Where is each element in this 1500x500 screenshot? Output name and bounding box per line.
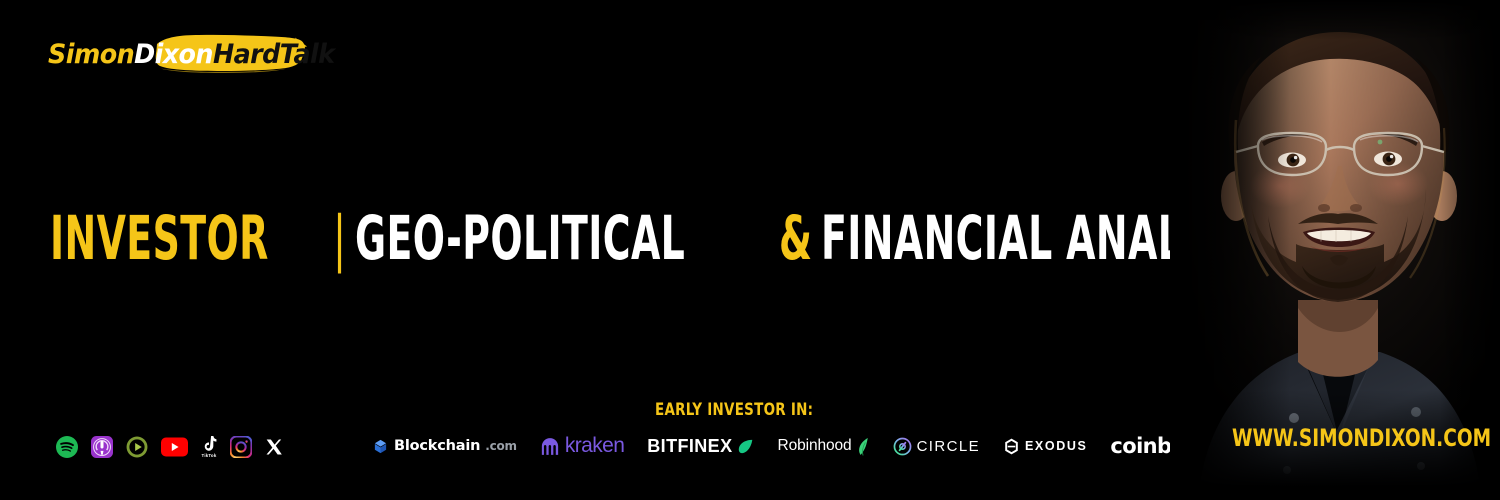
exodus-icon (1003, 438, 1020, 455)
exodus-wordmark: EXODUS (1025, 439, 1087, 453)
partner-kraken[interactable]: kraken (540, 434, 624, 458)
play-circle-icon[interactable] (126, 436, 148, 458)
headline-ampersand: & (779, 209, 812, 269)
bitfinex-wordmark: BITFINEX (647, 436, 732, 457)
headline-segment-geopolitical: GEO-POLITICAL (355, 209, 685, 269)
blockchain-wordmark: Blockchain (394, 438, 480, 454)
x-icon[interactable] (265, 438, 283, 456)
circle-icon (893, 437, 912, 456)
site-logo[interactable]: SimonDixonHardTalk (48, 28, 353, 80)
logo-hardtalk: HardTalk (213, 39, 335, 70)
partner-circle[interactable]: CIRCLE (893, 437, 980, 456)
blockchain-cube-icon (372, 438, 389, 455)
headline-segment-investor: INVESTOR (50, 209, 269, 269)
early-investor-label: EARLY INVESTOR IN: (655, 400, 813, 420)
apple-podcasts-icon[interactable] (91, 436, 113, 458)
robinhood-wordmark: Robinhood (777, 437, 851, 455)
partner-blockchain[interactable]: Blockchain.com (372, 438, 517, 455)
partner-exodus[interactable]: EXODUS (1003, 438, 1087, 455)
logo-text: SimonDixonHardTalk (48, 41, 334, 68)
spotify-icon[interactable] (56, 436, 78, 458)
tiktok-label: TikTok (202, 454, 217, 458)
youtube-icon[interactable] (161, 437, 188, 457)
partner-logos: Blockchain.com kraken BITFINEX Robinhood (372, 432, 1211, 460)
circle-wordmark: CIRCLE (917, 438, 980, 455)
kraken-icon (540, 437, 560, 456)
website-url[interactable]: WWW.SIMONDIXON.COM (1232, 424, 1491, 452)
kraken-wordmark: kraken (565, 434, 624, 458)
social-links: TikTok (56, 434, 283, 460)
partner-robinhood[interactable]: Robinhood (777, 437, 869, 456)
robinhood-feather-icon (857, 437, 870, 456)
instagram-icon[interactable] (230, 436, 252, 458)
tiktok-icon[interactable]: TikTok (201, 435, 217, 458)
partner-bitfinex[interactable]: BITFINEX (647, 436, 754, 457)
banner: SimonDixonHardTalk INVESTOR | GEO-POLITI… (0, 0, 1500, 500)
logo-stack: SimonDixonHardTalk (48, 28, 353, 80)
bitfinex-leaf-icon (737, 438, 754, 455)
logo-simon: Simon (48, 39, 134, 70)
headline-separator-1: | (330, 209, 349, 269)
logo-dixon: Dixon (134, 39, 213, 70)
blockchain-domain: .com (485, 439, 517, 453)
